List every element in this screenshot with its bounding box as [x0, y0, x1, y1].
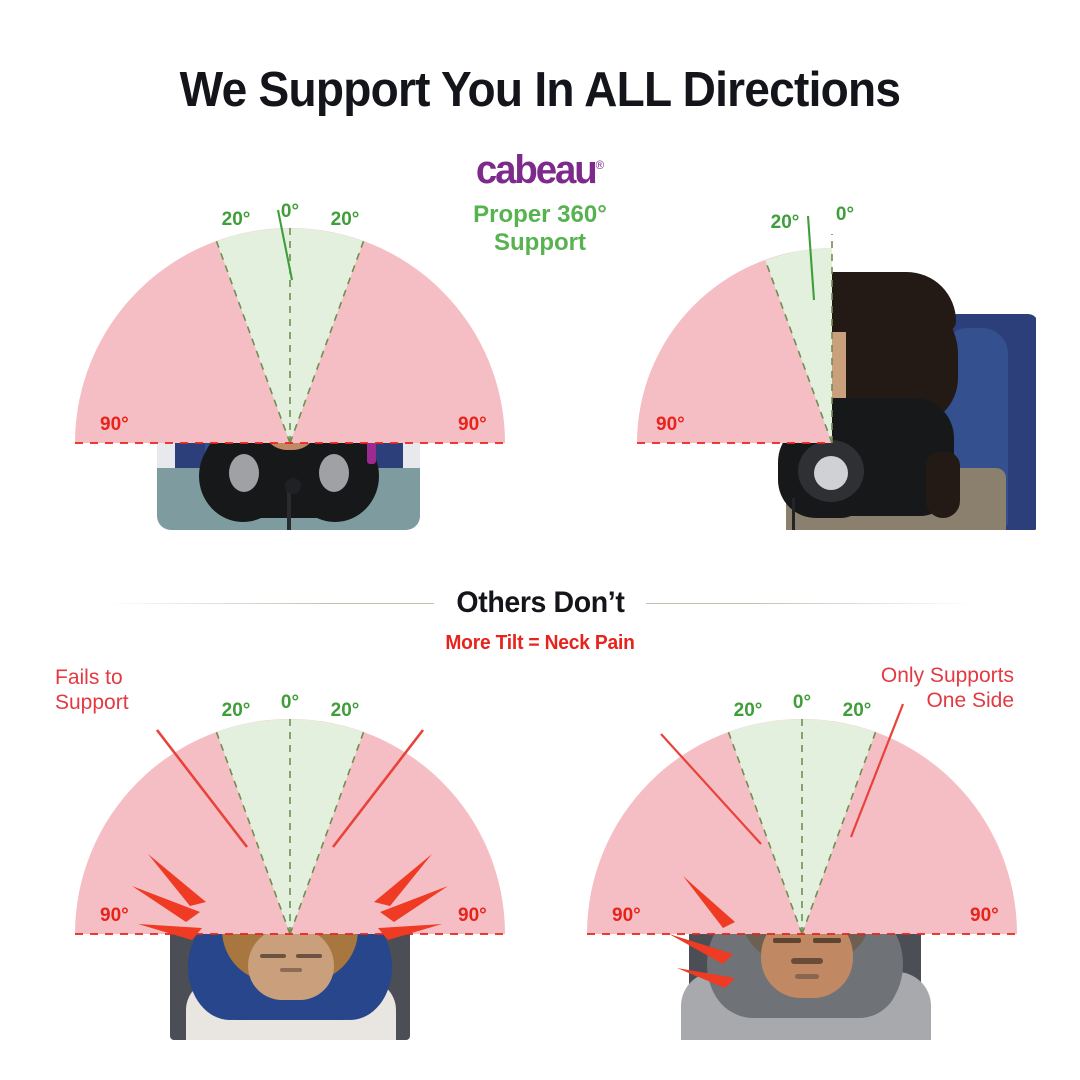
- brand-wordmark: cabeau: [476, 148, 596, 192]
- label-plus-20: 20°: [331, 700, 360, 721]
- angle-diagram-other-scarf-pillow: 20° 0° 20° 90° 90°: [565, 672, 1040, 1040]
- others-dont-title: Others Don’t: [456, 586, 624, 620]
- label-90-left: 90°: [656, 414, 685, 435]
- others-divider: Others Don’t: [0, 583, 1080, 623]
- cabeau-logo: cabeau®: [22, 148, 1059, 193]
- label-90-left: 90°: [612, 905, 641, 926]
- label-plus-20: 20°: [843, 700, 872, 721]
- label-minus-20: 20°: [734, 700, 763, 721]
- label-90-right: 90°: [458, 905, 487, 926]
- label-zero: 0°: [281, 201, 299, 222]
- more-tilt-subtitle: More Tilt = Neck Pain: [22, 632, 1059, 655]
- label-zero: 0°: [836, 204, 854, 225]
- label-90-right: 90°: [970, 905, 999, 926]
- label-zero: 0°: [281, 692, 299, 713]
- registered-trademark-icon: ®: [596, 158, 604, 172]
- panel-other-u-pillow: 20° 0° 20° 90° 90°: [40, 672, 540, 1040]
- infographic-canvas: We Support You In ALL Directions cabeau®…: [0, 0, 1080, 1080]
- label-90-left: 90°: [100, 414, 129, 435]
- label-minus-20: 20°: [222, 700, 251, 721]
- label-zero: 0°: [793, 692, 811, 713]
- label-90-left: 90°: [100, 905, 129, 926]
- panel-other-scarf-pillow: 20° 0° 20° 90° 90°: [565, 672, 1040, 1040]
- angle-diagram-cabeau-side: 20° 0° 90°: [600, 200, 1040, 545]
- page-title: We Support You In ALL Directions: [32, 62, 1047, 118]
- label-minus-20: 20°: [771, 212, 800, 233]
- label-90-right: 90°: [458, 414, 487, 435]
- divider-rule-right: [646, 603, 976, 604]
- angle-diagram-cabeau-front: 20° 0° 20° 90° 90°: [40, 200, 540, 545]
- panel-cabeau-side: 20° 0° 90°: [600, 200, 1040, 545]
- label-plus-20: 20°: [331, 209, 360, 230]
- angle-diagram-other-u-pillow: 20° 0° 20° 90° 90°: [40, 672, 540, 1040]
- panel-cabeau-front: 20° 0° 20° 90° 90°: [40, 200, 540, 545]
- divider-rule-left: [104, 603, 434, 604]
- label-minus-20: 20°: [222, 209, 251, 230]
